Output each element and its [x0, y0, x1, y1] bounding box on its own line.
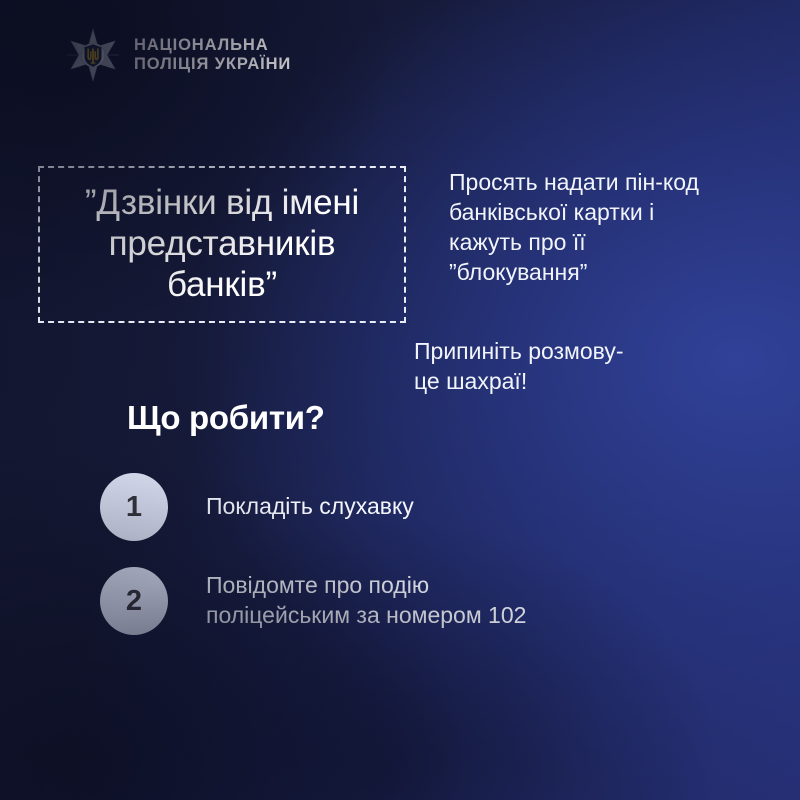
- step-number-badge: 2: [100, 567, 168, 635]
- list-item: 2 Повідомте про подію поліцейським за но…: [100, 567, 700, 635]
- logo-line-1: НАЦІОНАЛЬНА: [134, 36, 291, 55]
- stop-call-paragraph: Припиніть розмову- це шахраї!: [414, 337, 754, 397]
- police-logo-text: НАЦІОНАЛЬНА ПОЛІЦІЯ УКРАЇНИ: [134, 36, 291, 75]
- police-logo: НАЦІОНАЛЬНА ПОЛІЦІЯ УКРАЇНИ: [66, 28, 291, 82]
- step-number-badge: 1: [100, 473, 168, 541]
- step-text: Покладіть слухавку: [206, 492, 414, 522]
- logo-line-2: ПОЛІЦІЯ УКРАЇНИ: [134, 55, 291, 74]
- steps-list: 1 Покладіть слухавку 2 Повідомте про под…: [100, 473, 700, 635]
- step-text: Повідомте про подію поліцейським за номе…: [206, 571, 526, 631]
- what-to-do-heading: Що робити?: [127, 399, 325, 437]
- headline-title: ”Дзвінки від імені представників банків”: [85, 183, 359, 306]
- list-item: 1 Покладіть слухавку: [100, 473, 700, 541]
- national-police-star-emblem: [66, 28, 120, 82]
- headline-dashed-box: ”Дзвінки від імені представників банків”: [38, 166, 406, 323]
- pin-request-paragraph: Просять надати пін-код банківської картк…: [449, 168, 769, 288]
- infographic-poster: НАЦІОНАЛЬНА ПОЛІЦІЯ УКРАЇНИ ”Дзвінки від…: [0, 0, 800, 800]
